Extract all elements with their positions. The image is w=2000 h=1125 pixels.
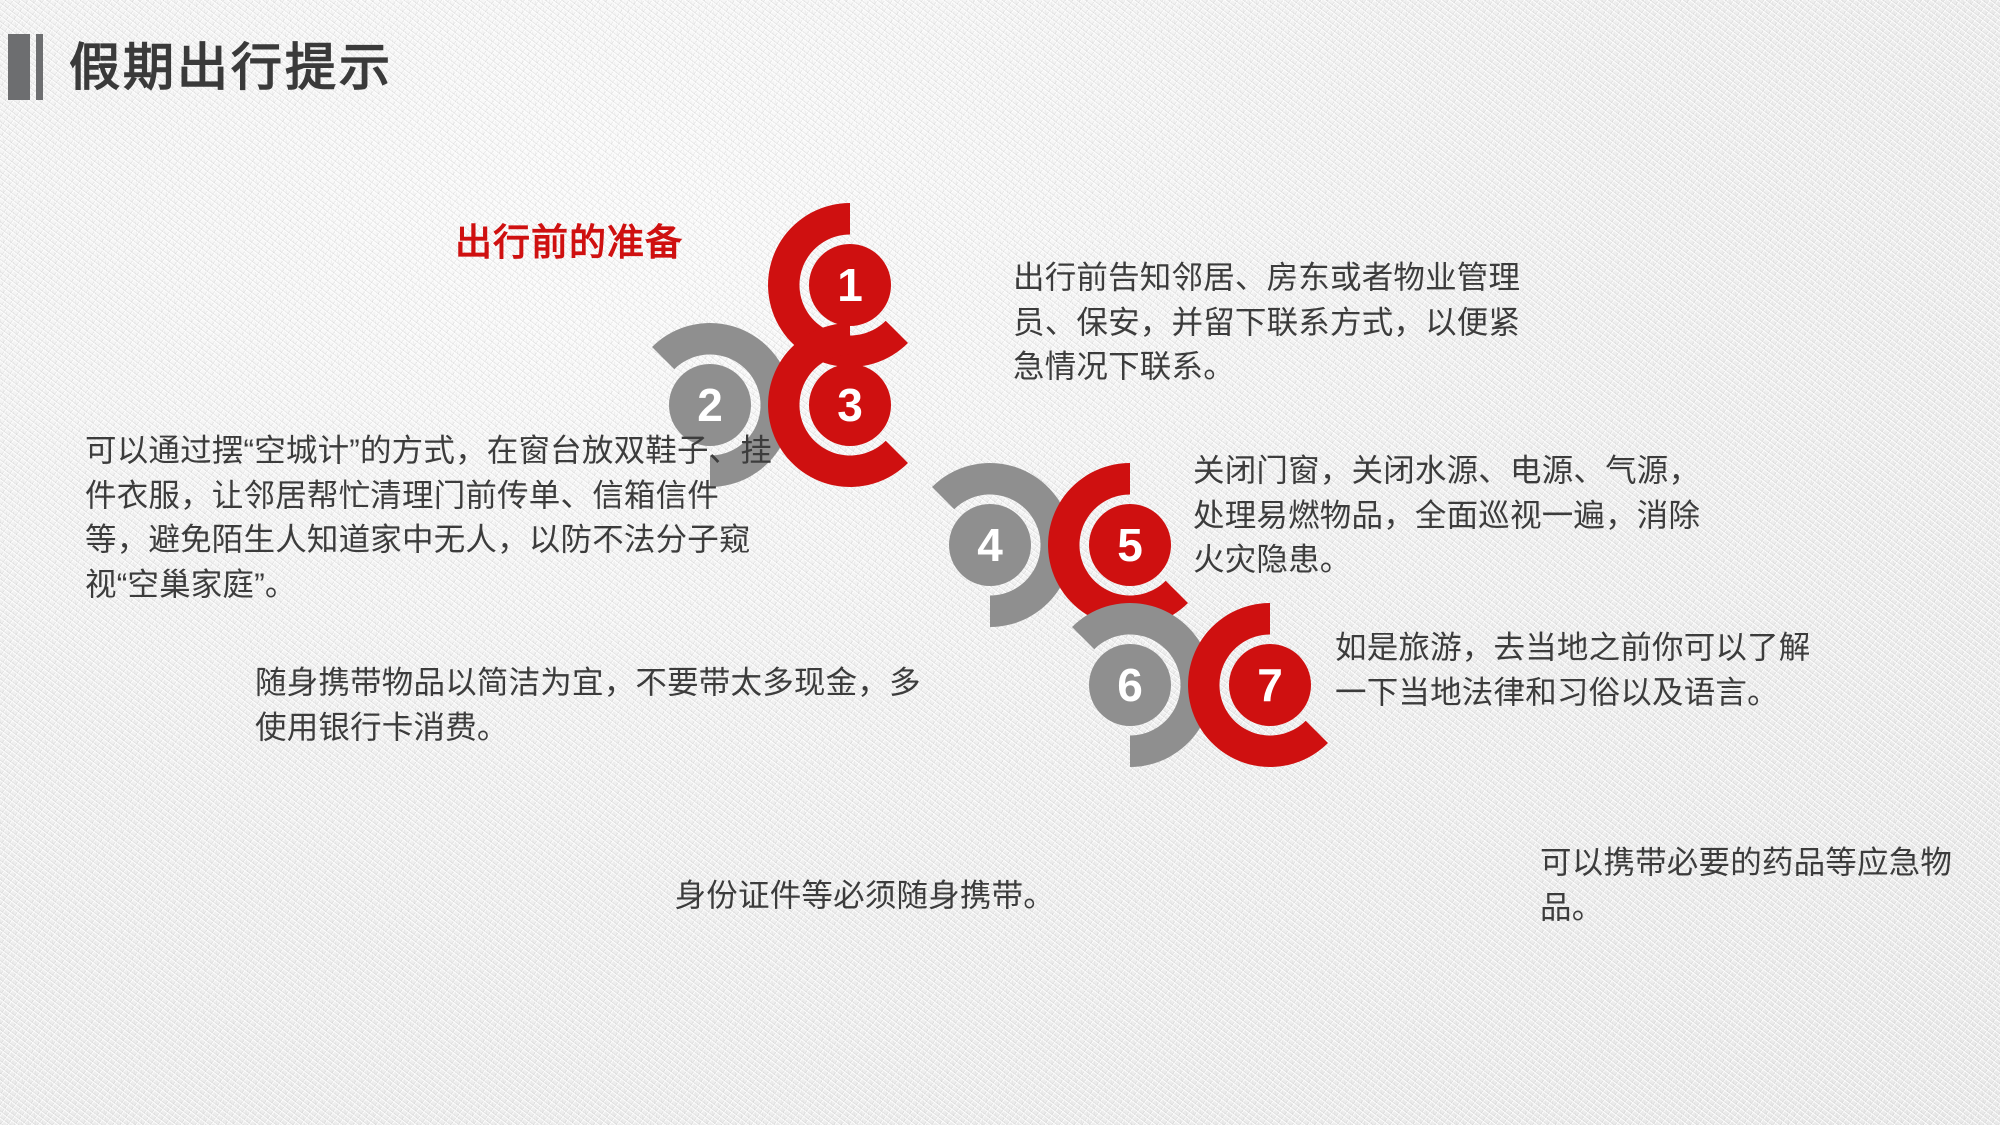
section-heading: 出行前的准备 [455, 212, 683, 266]
step-ring-6 [1030, 585, 1230, 785]
slide-canvas: 假期出行提示 出行前的准备 1 2 3 [0, 0, 2000, 1125]
title-accent-bar-thick [8, 34, 30, 100]
step-text-5: 如是旅游，去当地之前你可以了解一下当地法律和习俗以及语言。 [1335, 625, 1835, 714]
step-number-1: 1 [750, 185, 950, 385]
step-ring-4 [890, 445, 1090, 645]
step-node-1: 1 [750, 185, 950, 385]
title-accent-bar-thin [36, 34, 43, 100]
step-number-4: 4 [890, 445, 1090, 645]
step-node-4: 4 [890, 445, 1090, 645]
step-text-2: 可以通过摆“空城计”的方式，在窗台放双鞋子、挂件衣服，让邻居帮忙清理门前传单、信… [85, 428, 775, 607]
step-ring-1 [750, 185, 950, 385]
step-text-6: 身份证件等必须随身携带。 [455, 873, 1055, 918]
step-node-6: 6 [1030, 585, 1230, 785]
step-number-3: 3 [750, 305, 950, 505]
step-text-4: 随身携带物品以简洁为宜，不要带太多现金，多使用银行卡消费。 [255, 660, 935, 749]
step-text-3: 关闭门窗，关闭水源、电源、气源，处理易燃物品，全面巡视一遍，消除火灾隐患。 [1193, 448, 1713, 582]
slide-title-bar: 假期出行提示 [0, 32, 393, 102]
step-text-1: 出行前告知邻居、房东或者物业管理员、保安，并留下联系方式，以便紧急情况下联系。 [1013, 255, 1533, 389]
step-text-7: 可以携带必要的药品等应急物品。 [1540, 840, 1980, 929]
step-number-6: 6 [1030, 585, 1230, 785]
step-node-3: 3 [750, 305, 950, 505]
page-title: 假期出行提示 [69, 42, 393, 93]
step-ring-3 [750, 305, 950, 505]
